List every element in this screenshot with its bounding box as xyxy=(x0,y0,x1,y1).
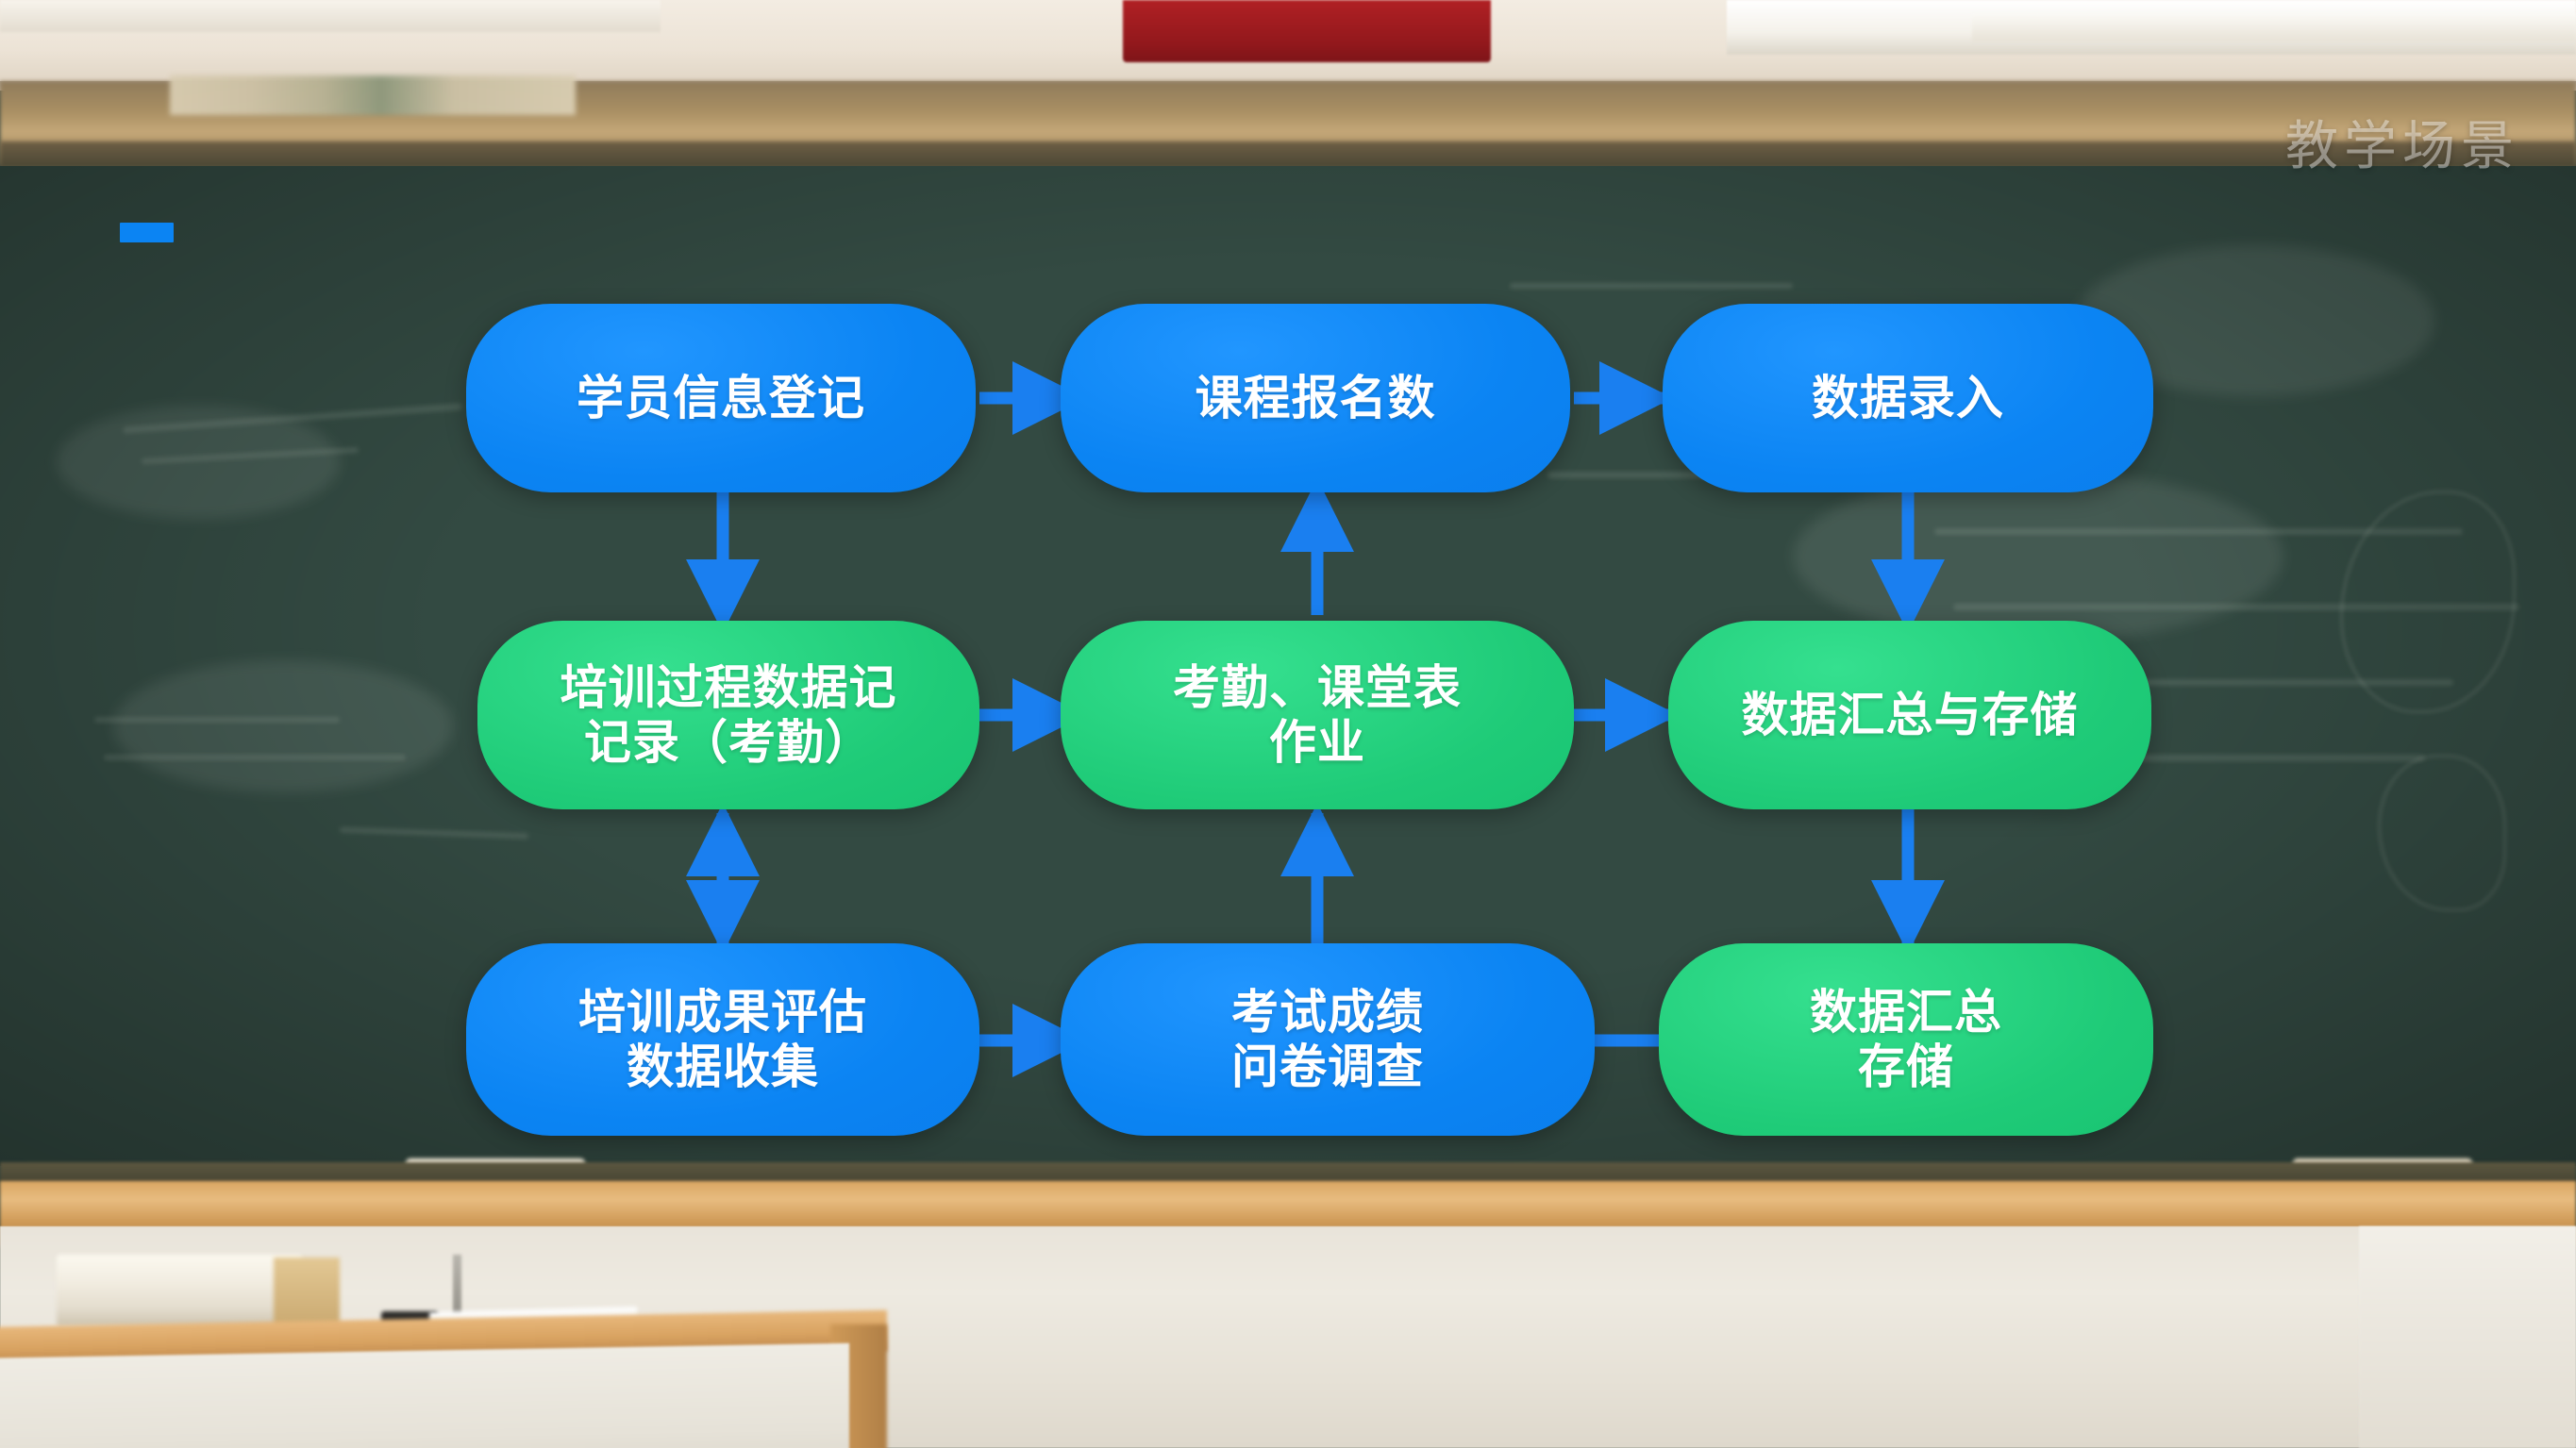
flow-node-n8[interactable]: 考试成绩 问卷调查 xyxy=(1061,943,1595,1136)
flow-node-label: 课程报名数 xyxy=(1196,371,1436,425)
flow-node-label: 数据录入 xyxy=(1812,371,2004,425)
flow-node-n9[interactable]: 数据汇总 存储 xyxy=(1659,943,2153,1136)
flow-node-label: 培训成果评估 数据收集 xyxy=(578,985,867,1094)
flow-node-label: 数据汇总 存储 xyxy=(1810,985,2002,1094)
flow-node-n2[interactable]: 课程报名数 xyxy=(1061,304,1570,492)
flow-node-label: 考试成绩 问卷调查 xyxy=(1231,985,1424,1094)
flow-node-label: 学员信息登记 xyxy=(577,371,865,425)
flow-node-n1[interactable]: 学员信息登记 xyxy=(466,304,976,492)
flow-node-n6[interactable]: 数据汇总与存储 xyxy=(1668,621,2151,809)
flow-node-label: 考勤、课堂表 作业 xyxy=(1173,660,1462,770)
screenshot-root: 教学场景 xyxy=(0,0,2576,1448)
flowchart: 学员信息登记 课程报名数 数据录入 培训过程数据记 记录（考勤） 考勤、课堂表 … xyxy=(0,0,2576,1448)
flow-node-n7[interactable]: 培训成果评估 数据收集 xyxy=(466,943,979,1136)
flow-node-n5[interactable]: 考勤、课堂表 作业 xyxy=(1061,621,1574,809)
flow-node-label: 数据汇总与存储 xyxy=(1742,688,2079,742)
flow-node-n4[interactable]: 培训过程数据记 记录（考勤） xyxy=(477,621,979,809)
flow-node-label: 培训过程数据记 记录（考勤） xyxy=(560,660,897,770)
flow-node-n3[interactable]: 数据录入 xyxy=(1663,304,2153,492)
